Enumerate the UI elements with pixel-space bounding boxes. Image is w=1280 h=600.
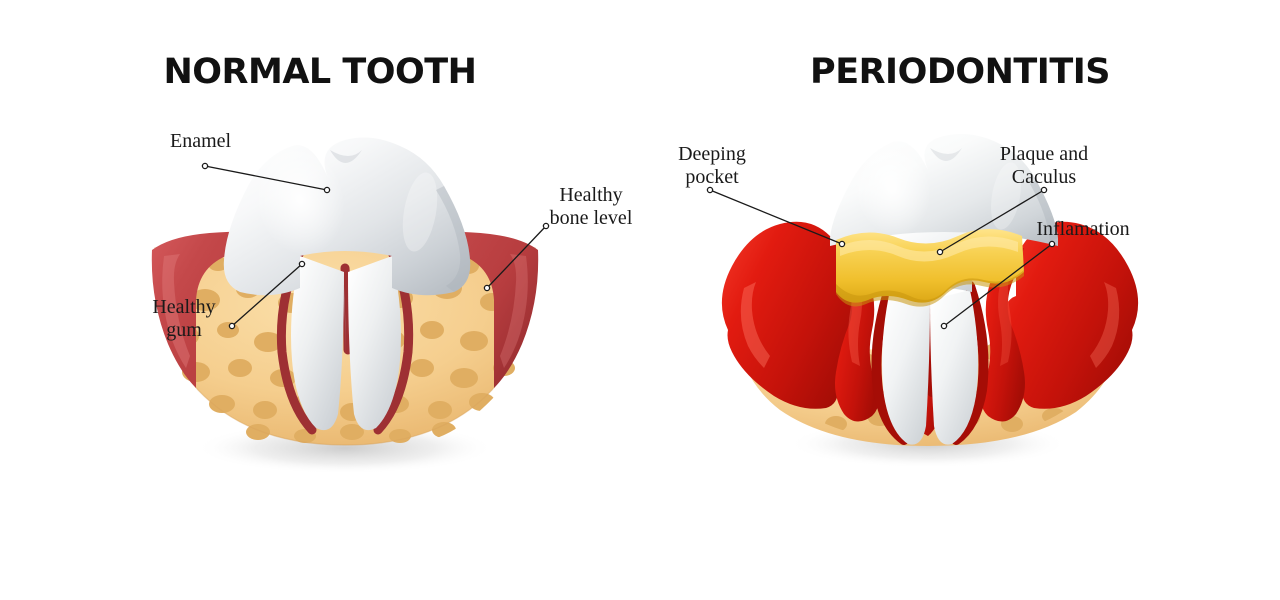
label-healthy-gum-line-1: Healthy — [140, 296, 228, 319]
label-inflamation: Inflamation — [1035, 218, 1131, 241]
label-healthy-gum: Healthy gum — [140, 296, 228, 342]
label-plaque-and-caculus-line-2: Caculus — [995, 166, 1093, 189]
label-healthy-bone-level-line-2: bone level — [548, 207, 634, 230]
figure-normal-tooth: NORMAL TOOTH — [0, 0, 640, 600]
label-inflamation-line-1: Inflamation — [1035, 218, 1131, 241]
label-plaque-and-caculus-line-1: Plaque and — [995, 143, 1093, 166]
periodontitis-illustration — [640, 0, 1280, 600]
label-healthy-bone-level-line-1: Healthy — [548, 184, 634, 207]
figure-periodontitis: PERIODONTITIS — [640, 0, 1280, 600]
normal-tooth-illustration — [0, 0, 640, 600]
label-plaque-and-caculus: Plaque and Caculus — [995, 143, 1093, 189]
label-healthy-bone-level: Healthy bone level — [548, 184, 634, 230]
label-enamel-line-1: Enamel — [170, 130, 231, 153]
label-deeping-pocket-line-2: pocket — [670, 166, 754, 189]
label-deeping-pocket-line-1: Deeping — [670, 143, 754, 166]
label-deeping-pocket: Deeping pocket — [670, 143, 754, 189]
label-healthy-gum-line-2: gum — [140, 319, 228, 342]
label-enamel: Enamel — [170, 130, 231, 153]
